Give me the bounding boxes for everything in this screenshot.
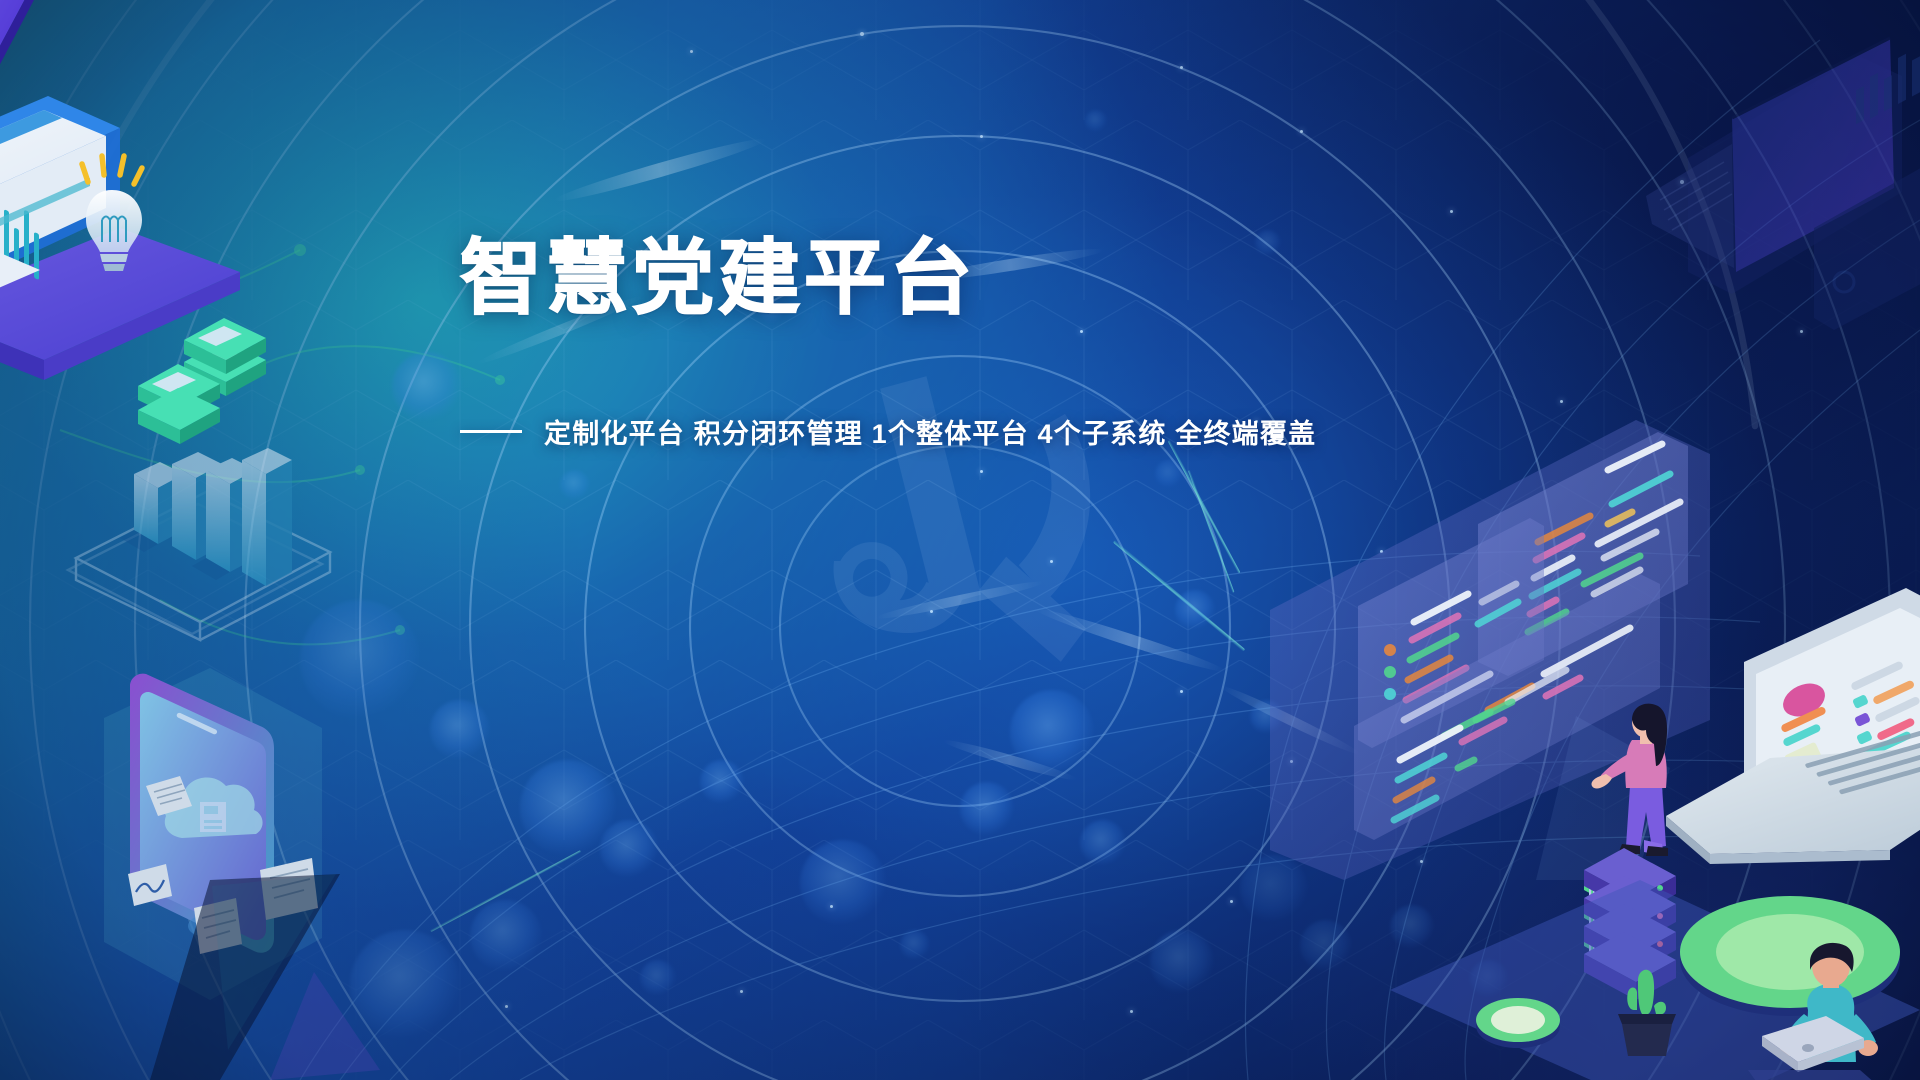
page-title: 智慧党建平台: [460, 237, 976, 321]
headline-block: 智慧党建平台: [460, 237, 976, 321]
top-left-purple-panel: [0, 0, 110, 140]
green-pod-small: [1476, 998, 1560, 1048]
page-subtitle: 定制化平台 积分闭环管理 1个整体平台 4个子系统 全终端覆盖: [544, 412, 1316, 451]
subtitle-row: 定制化平台 积分闭环管理 1个整体平台 4个子系统 全终端覆盖: [460, 412, 1316, 451]
top-right-laptop-silhouette: [1582, 10, 1920, 310]
right-laptop-illustration: [1700, 640, 1920, 900]
bottom-left-dark-wedge: [210, 880, 530, 1080]
teal-server-stack: [138, 318, 266, 444]
subtitle-dash: [460, 430, 522, 433]
data-tower: [242, 448, 292, 586]
seated-person-laptop-illustration: [1768, 944, 1920, 1080]
hero-banner: 智慧党建平台 定制化平台 积分闭环管理 1个整体平台 4个子系统 全终端覆盖: [0, 0, 1920, 1080]
